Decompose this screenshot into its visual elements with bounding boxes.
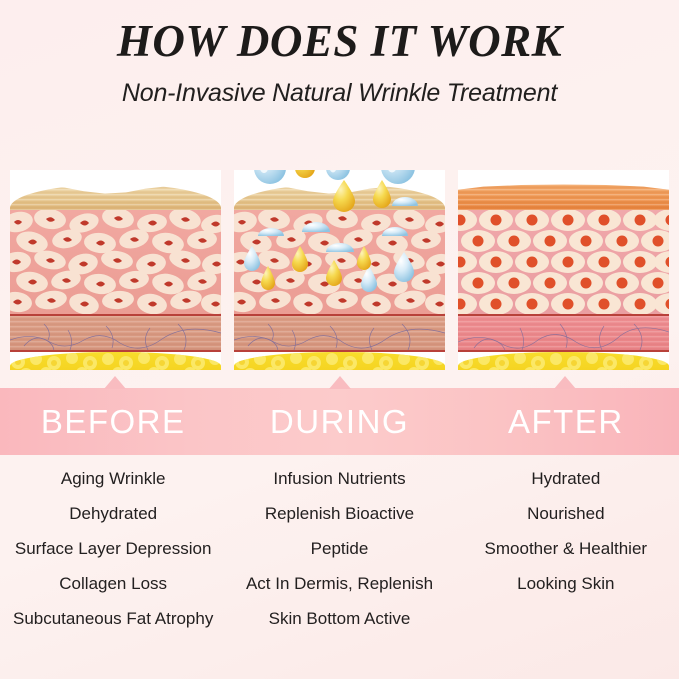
lower-dermis-layer xyxy=(10,314,221,352)
list-item: Surface Layer Depression xyxy=(0,540,226,557)
list-item: Subcutaneous Fat Atrophy xyxy=(0,610,226,627)
water-droplet-icon xyxy=(258,228,284,236)
dermis-cells-regular-icon xyxy=(458,210,669,314)
page-title: HOW DOES IT WORK xyxy=(0,0,679,65)
blood-vessels-icon xyxy=(458,316,669,352)
banner-cell-after: AFTER xyxy=(453,388,679,455)
infographic-page: HOW DOES IT WORK Non-Invasive Natural Wr… xyxy=(0,0,679,679)
list-item: Smoother & Healthier xyxy=(453,540,679,557)
description-column-during: Infusion Nutrients Replenish Bioactive P… xyxy=(226,470,452,645)
water-droplet-icon xyxy=(302,222,330,232)
list-item: Skin Bottom Active xyxy=(226,610,452,627)
water-droplet-icon xyxy=(254,170,286,184)
subcutaneous-fat-layer xyxy=(458,352,669,370)
list-item: Peptide xyxy=(226,540,452,557)
fat-globules-icon xyxy=(10,352,221,370)
dermis-layer xyxy=(458,210,669,314)
droplets-overlay xyxy=(234,170,445,370)
banner-cell-before: BEFORE xyxy=(0,388,226,455)
lower-dermis-layer xyxy=(458,314,669,352)
list-item: Collagen Loss xyxy=(0,575,226,592)
list-item: Hydrated xyxy=(453,470,679,487)
list-item: Aging Wrinkle xyxy=(0,470,226,487)
description-column-after: Hydrated Nourished Smoother & Healthier … xyxy=(453,470,679,645)
dermis-layer xyxy=(10,210,221,314)
water-droplet-icon xyxy=(244,246,260,271)
skin-cross-section-after xyxy=(458,170,669,370)
page-subtitle: Non-Invasive Natural Wrinkle Treatment xyxy=(0,65,679,108)
water-droplet-icon xyxy=(394,252,414,282)
list-item: Act In Dermis, Replenish xyxy=(226,575,452,592)
oil-droplet-icon xyxy=(292,246,308,272)
banner-cell-during: DURING xyxy=(226,388,452,455)
oil-droplet-icon xyxy=(357,246,371,270)
water-droplet-icon xyxy=(382,227,408,236)
stage-banner: BEFORE DURING AFTER xyxy=(0,388,679,455)
list-item: Dehydrated xyxy=(0,505,226,522)
oil-droplet-icon xyxy=(326,260,342,286)
fat-globules-icon xyxy=(458,352,669,370)
oil-droplet-icon xyxy=(333,180,355,212)
dermis-cells-irregular-icon xyxy=(10,210,221,314)
water-droplet-icon xyxy=(392,197,418,206)
list-item: Infusion Nutrients xyxy=(226,470,452,487)
epidermis-layer-smooth-icon xyxy=(458,184,669,210)
subcutaneous-fat-layer xyxy=(10,352,221,370)
stage-descriptions: Aging Wrinkle Dehydrated Surface Layer D… xyxy=(0,470,679,645)
list-item: Replenish Bioactive xyxy=(226,505,452,522)
stage-label-before: BEFORE xyxy=(41,403,186,441)
header: HOW DOES IT WORK Non-Invasive Natural Wr… xyxy=(0,0,679,108)
oil-droplet-icon xyxy=(261,266,275,290)
stage-label-during: DURING xyxy=(270,403,409,441)
skin-cross-section-before xyxy=(10,170,221,370)
water-droplet-icon xyxy=(326,170,350,180)
skin-panels-row xyxy=(10,170,669,370)
water-droplet-icon xyxy=(381,170,415,184)
oil-droplet-icon xyxy=(295,170,315,178)
list-item: Nourished xyxy=(453,505,679,522)
list-item: Looking Skin xyxy=(453,575,679,592)
oil-droplet-icon xyxy=(373,180,391,208)
blood-vessels-icon xyxy=(10,316,221,352)
stage-label-after: AFTER xyxy=(508,403,624,441)
skin-cross-section-during xyxy=(234,170,445,370)
water-droplet-icon xyxy=(326,243,354,252)
description-column-before: Aging Wrinkle Dehydrated Surface Layer D… xyxy=(0,470,226,645)
